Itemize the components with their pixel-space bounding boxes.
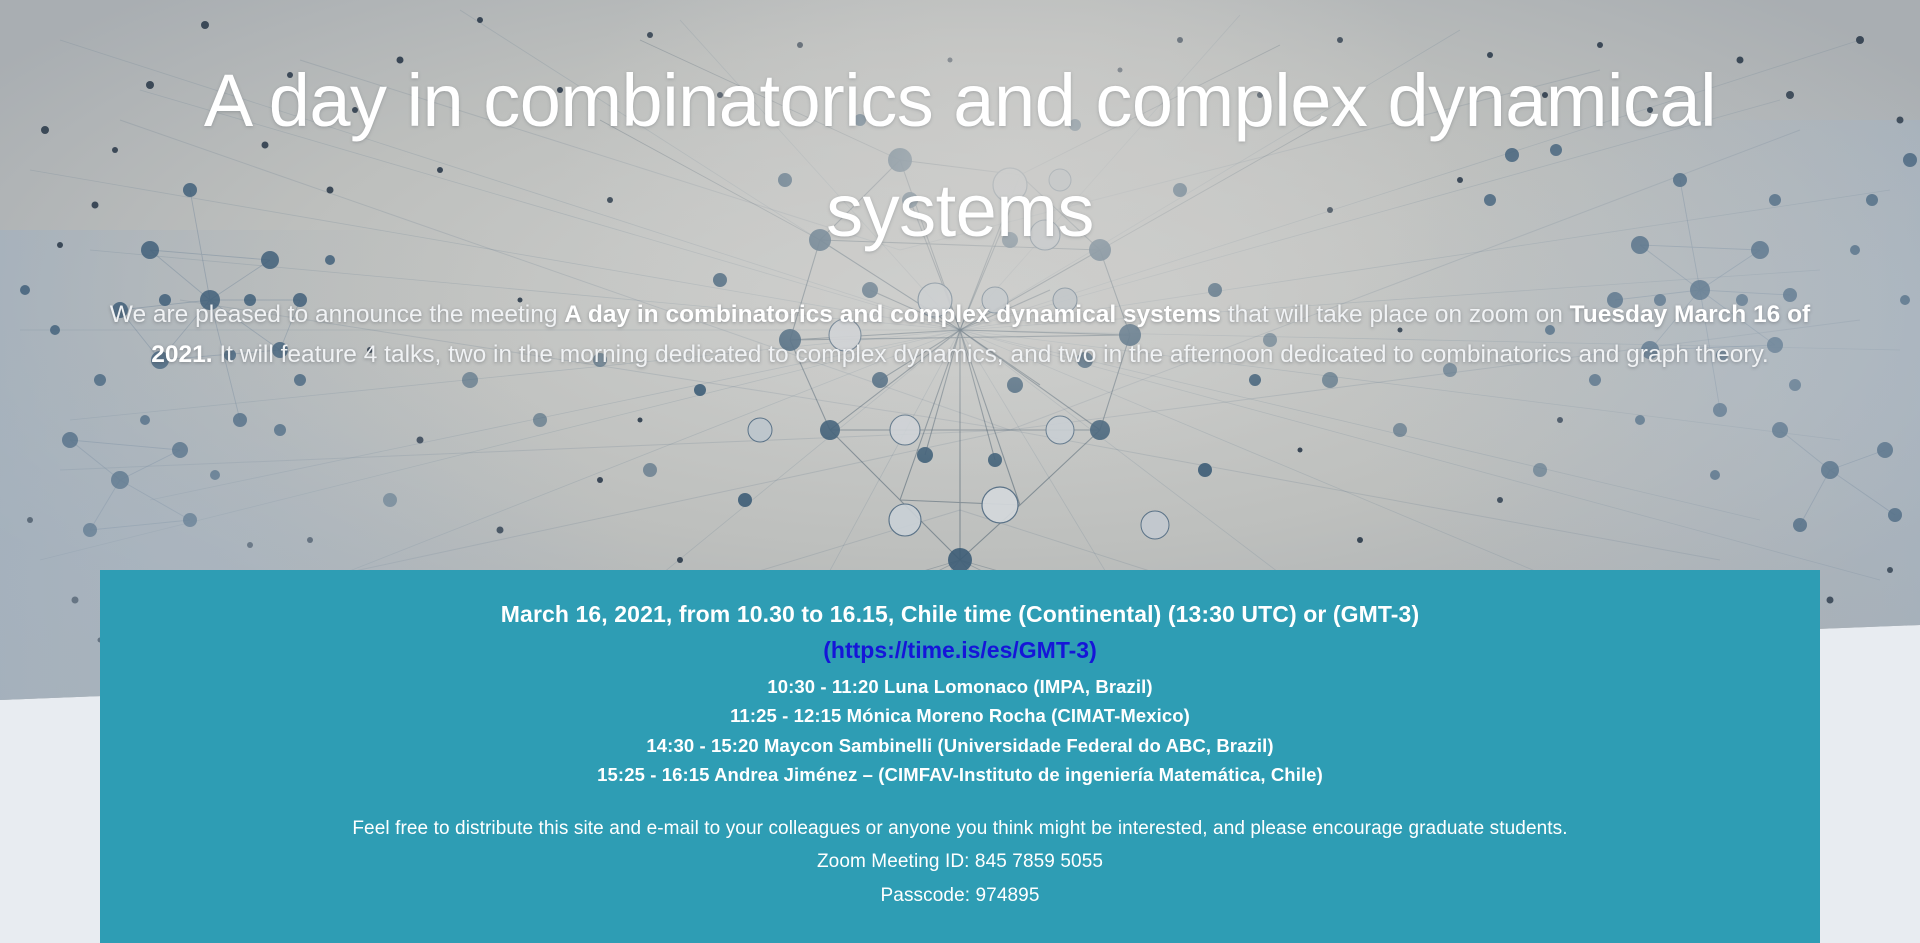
zoom-passcode: Passcode: 974895 (100, 879, 1820, 912)
schedule-item: 11:25 - 12:15 Mónica Moreno Rocha (CIMAT… (100, 701, 1820, 730)
event-datetime-headline: March 16, 2021, from 10.30 to 16.15, Chi… (100, 598, 1820, 630)
hero-description-mid: that will take place on zoom on (1221, 301, 1570, 328)
hero-description: We are pleased to announce the meeting A… (105, 295, 1815, 374)
distribute-note: Feel free to distribute this site and e-… (100, 812, 1820, 845)
zoom-meeting-id: Zoom Meeting ID: 845 7859 5055 (100, 845, 1820, 878)
schedule-item: 14:30 - 15:20 Maycon Sambinelli (Univers… (100, 731, 1820, 760)
hero-description-post: It will feature 4 talks, two in the morn… (213, 341, 1769, 368)
page-root: A day in combinatorics and complex dynam… (0, 0, 1920, 943)
timezone-link[interactable]: (https://time.is/es/GMT-3) (823, 637, 1096, 663)
timezone-link-row: (https://time.is/es/GMT-3) (100, 637, 1820, 664)
hero-description-meeting-name: A day in combinatorics and complex dynam… (564, 301, 1221, 328)
event-details-panel: March 16, 2021, from 10.30 to 16.15, Chi… (100, 570, 1820, 943)
hero-text-block: A day in combinatorics and complex dynam… (0, 0, 1920, 374)
schedule-item: 15:25 - 16:15 Andrea Jiménez – (CIMFAV-I… (100, 760, 1820, 789)
zoom-info-block: Feel free to distribute this site and e-… (100, 812, 1820, 912)
schedule-item: 10:30 - 11:20 Luna Lomonaco (IMPA, Brazi… (100, 672, 1820, 701)
hero-description-pre: We are pleased to announce the meeting (110, 301, 564, 328)
talk-schedule-list: 10:30 - 11:20 Luna Lomonaco (IMPA, Brazi… (100, 672, 1820, 789)
page-title: A day in combinatorics and complex dynam… (180, 0, 1740, 265)
